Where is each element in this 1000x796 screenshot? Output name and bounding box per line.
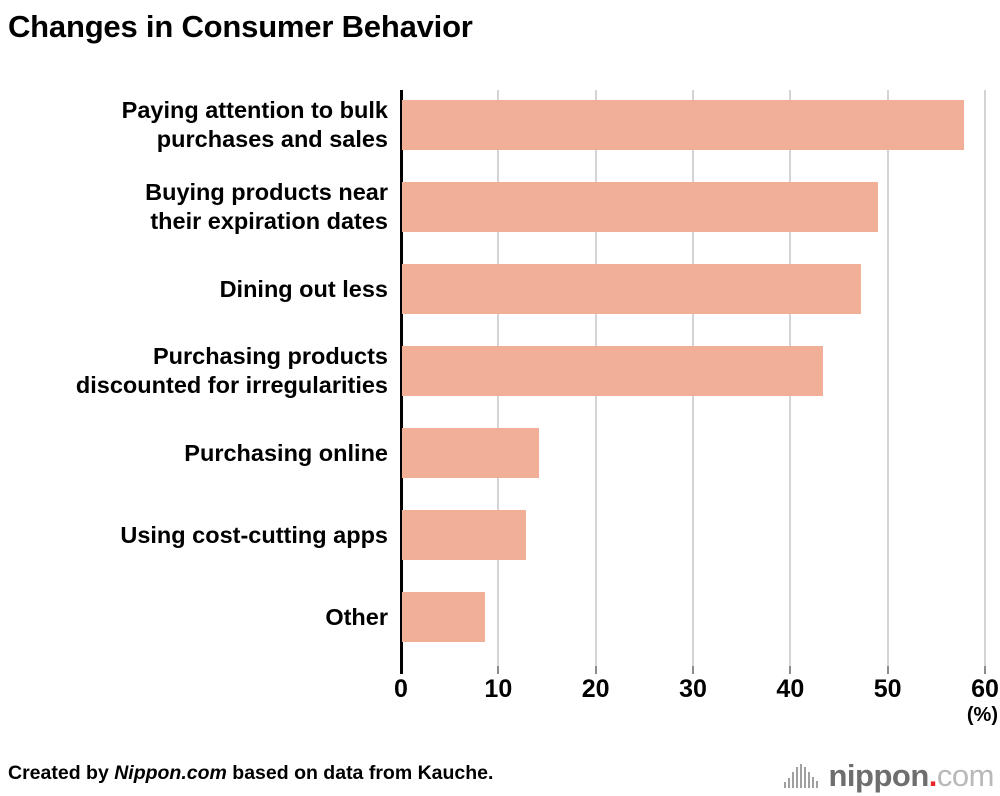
bar[interactable] xyxy=(402,264,861,314)
nippon-com-logo[interactable]: nippon.com xyxy=(784,757,995,791)
logo-brand: nippon xyxy=(829,758,929,793)
x-tick-label-0: 0 xyxy=(371,675,431,704)
x-tick-mark-40 xyxy=(789,666,791,674)
wave-bar xyxy=(800,764,802,788)
wave-bar xyxy=(812,777,814,788)
wave-bar xyxy=(792,772,794,788)
wave-bar xyxy=(808,772,810,788)
bar-row: Buying products neartheir expiration dat… xyxy=(0,172,1000,254)
bar[interactable] xyxy=(402,428,539,478)
logo-dot: . xyxy=(929,758,937,793)
category-label: Paying attention to bulkpurchases and sa… xyxy=(18,96,388,154)
category-label-line: purchases and sales xyxy=(18,125,388,154)
x-axis: 0102030405060 (%) xyxy=(0,666,1000,726)
bar[interactable] xyxy=(402,100,964,150)
category-label-line: Buying products near xyxy=(18,178,388,207)
x-axis-unit-label: (%) xyxy=(0,704,998,727)
category-label-line: Dining out less xyxy=(18,275,388,304)
category-label-line: Purchasing online xyxy=(18,439,388,468)
category-label-line: discounted for irregularities xyxy=(18,371,388,400)
bar-row: Purchasing online xyxy=(0,418,1000,500)
category-label: Dining out less xyxy=(18,275,388,304)
chart-plot-area: Paying attention to bulkpurchases and sa… xyxy=(0,90,1000,666)
bar-row: Other xyxy=(0,582,1000,664)
bar[interactable] xyxy=(402,182,878,232)
source-note-publisher: Nippon.com xyxy=(114,762,227,784)
category-label: Purchasing productsdiscounted for irregu… xyxy=(18,342,388,400)
category-label-line: their expiration dates xyxy=(18,207,388,236)
bar[interactable] xyxy=(402,510,526,560)
page-title: Changes in Consumer Behavior xyxy=(8,8,473,46)
wave-bar xyxy=(784,782,786,788)
x-tick-mark-20 xyxy=(595,666,597,674)
x-tick-label-40: 40 xyxy=(760,675,820,704)
x-tick-mark-50 xyxy=(887,666,889,674)
source-note-suffix: based on data from Kauche. xyxy=(227,762,494,784)
logo-wordmark: nippon.com xyxy=(829,760,995,791)
bar-row: Using cost-cutting apps xyxy=(0,500,1000,582)
wave-bar xyxy=(796,767,798,788)
x-tick-label-50: 50 xyxy=(858,675,918,704)
source-note: Created by Nippon.com based on data from… xyxy=(8,762,493,785)
x-tick-label-30: 30 xyxy=(663,675,723,704)
x-tick-label-60: 60 xyxy=(955,675,1000,704)
bar[interactable] xyxy=(402,592,485,642)
category-label-line: Other xyxy=(18,603,388,632)
wave-bar xyxy=(788,778,790,788)
wave-bar xyxy=(804,767,806,788)
x-tick-mark-10 xyxy=(497,666,499,674)
logo-tld: com xyxy=(937,758,994,793)
bar[interactable] xyxy=(402,346,823,396)
source-note-prefix: Created by xyxy=(8,762,114,784)
category-label: Purchasing online xyxy=(18,439,388,468)
category-label-line: Paying attention to bulk xyxy=(18,96,388,125)
bar-row: Purchasing productsdiscounted for irregu… xyxy=(0,336,1000,418)
audio-wave-icon xyxy=(784,764,820,788)
wave-bar xyxy=(816,781,818,788)
category-label-line: Using cost-cutting apps xyxy=(18,521,388,550)
category-label-line: Purchasing products xyxy=(18,342,388,371)
bar-row: Paying attention to bulkpurchases and sa… xyxy=(0,90,1000,172)
category-label: Buying products neartheir expiration dat… xyxy=(18,178,388,236)
category-label: Using cost-cutting apps xyxy=(18,521,388,550)
x-tick-label-20: 20 xyxy=(566,675,626,704)
x-tick-mark-30 xyxy=(692,666,694,674)
category-label: Other xyxy=(18,603,388,632)
x-tick-label-10: 10 xyxy=(468,675,528,704)
x-tick-mark-0 xyxy=(400,666,403,674)
bar-row: Dining out less xyxy=(0,254,1000,336)
x-tick-mark-60 xyxy=(984,666,986,674)
